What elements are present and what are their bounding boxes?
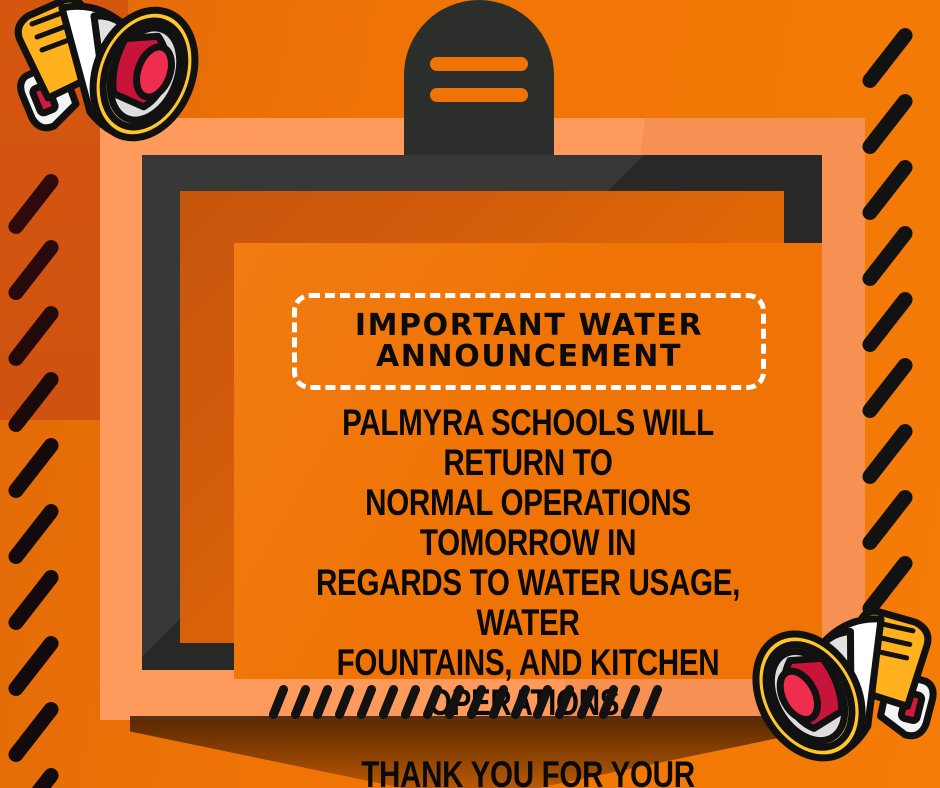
megaphone-icon xyxy=(752,580,940,788)
dash-mark xyxy=(5,501,61,567)
dash-mark xyxy=(378,684,400,721)
dash-mark xyxy=(576,684,598,721)
page-title: IMPORTANT WATER ANNOUNCEMENT xyxy=(307,310,751,372)
dash-mark xyxy=(5,237,61,303)
board-mount-bracket xyxy=(404,0,554,175)
dash-mark xyxy=(859,91,915,157)
dash-mark xyxy=(620,684,642,721)
dash-mark xyxy=(400,684,422,721)
dash-mark xyxy=(466,684,488,721)
dash-mark xyxy=(5,765,61,788)
dash-mark xyxy=(5,369,61,435)
dash-mark xyxy=(859,223,915,289)
board-inner-border: IMPORTANT WATER ANNOUNCEMENT PALMYRA SCH… xyxy=(180,191,784,643)
dash-mark xyxy=(312,684,334,721)
announcement-paragraph-1: PALMYRA SCHOOLS WILL RETURN TO NORMAL OP… xyxy=(299,403,757,723)
dash-mark xyxy=(510,684,532,721)
dash-mark xyxy=(5,699,61,765)
dash-mark xyxy=(5,303,61,369)
dash-mark xyxy=(859,25,915,91)
dash-mark xyxy=(859,487,915,553)
dash-mark xyxy=(334,684,356,721)
headline-badge: IMPORTANT WATER ANNOUNCEMENT xyxy=(292,293,766,390)
dash-mark xyxy=(5,171,61,237)
dash-mark xyxy=(5,567,61,633)
board-face: IMPORTANT WATER ANNOUNCEMENT PALMYRA SCH… xyxy=(234,243,822,679)
announcement-paragraph-2: THANK YOU FOR YOUR PATIENCE & SENDING YO… xyxy=(299,755,757,788)
dash-mark xyxy=(356,684,378,721)
dash-mark xyxy=(859,355,915,421)
bottom-dash-stripe xyxy=(274,678,672,726)
dash-mark xyxy=(5,633,61,699)
dash-mark xyxy=(444,684,466,721)
announcement-board: IMPORTANT WATER ANNOUNCEMENT PALMYRA SCH… xyxy=(142,155,822,670)
dash-mark xyxy=(642,684,664,721)
dash-mark xyxy=(554,684,576,721)
paragraph-spacer xyxy=(242,723,814,755)
dash-mark xyxy=(859,289,915,355)
dash-mark xyxy=(859,157,915,223)
dash-mark xyxy=(488,684,510,721)
dash-mark xyxy=(598,684,620,721)
announcement-body: PALMYRA SCHOOLS WILL RETURN TO NORMAL OP… xyxy=(242,403,814,788)
dash-mark xyxy=(5,435,61,501)
dash-mark xyxy=(859,421,915,487)
megaphone-icon xyxy=(2,0,202,164)
dash-mark xyxy=(290,684,312,721)
announcement-poster: IMPORTANT WATER ANNOUNCEMENT PALMYRA SCH… xyxy=(0,0,940,788)
dash-mark xyxy=(422,684,444,721)
dash-mark xyxy=(532,684,554,721)
